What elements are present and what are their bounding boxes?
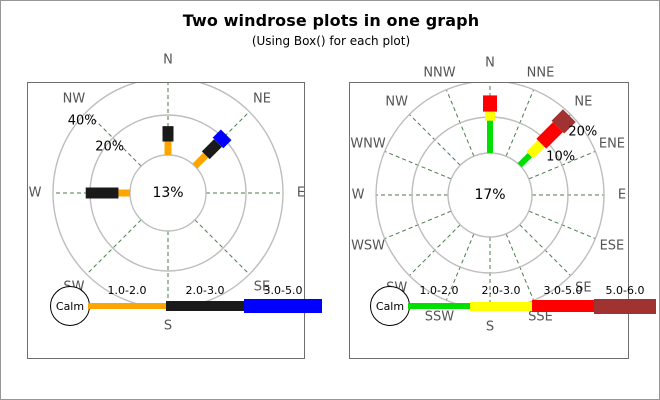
legend-label-5.0-6.0: 5.0-6.0 bbox=[606, 284, 645, 297]
legend-swatch-2.0-3.0 bbox=[166, 301, 244, 311]
legend-swatch-1.0-2.0 bbox=[88, 303, 166, 309]
legend-swatch-3.0-5.0 bbox=[532, 300, 594, 312]
plot-panel-right: NNNENEENEEESESESSESSSWSWWSWWWNWNWNNW10%2… bbox=[349, 82, 629, 359]
rose-segment-NE bbox=[195, 155, 206, 166]
plot-panel-left: NNEESESSWWNW20%40%13% Calm1.0-2.02.0-3.0… bbox=[27, 82, 305, 359]
rose-segment-NE bbox=[520, 155, 530, 165]
legend-calm-circle: Calm bbox=[50, 286, 90, 326]
rose-segment-NE bbox=[218, 135, 226, 143]
grid-spoke bbox=[195, 220, 249, 274]
grid-spoke bbox=[87, 220, 141, 274]
legend-swatch-5.0-6.0 bbox=[594, 299, 656, 314]
ring-pct-label: 40% bbox=[68, 114, 97, 129]
legend-label-2.0-3.0: 2.0-3.0 bbox=[482, 284, 521, 297]
legend-left: Calm1.0-2.02.0-3.03.0-5.0 bbox=[50, 278, 334, 334]
ring-pct-label: 20% bbox=[95, 140, 124, 155]
legend-label-1.0-2.0: 1.0-2.0 bbox=[108, 284, 147, 297]
legend-label-2.0-3.0: 2.0-3.0 bbox=[186, 284, 225, 297]
legend-label-3.0-5.0: 3.0-5.0 bbox=[544, 284, 583, 297]
compass-label-N: N bbox=[163, 53, 173, 68]
page-subtitle: (Using Box() for each plot) bbox=[1, 34, 660, 48]
legend-calm-circle: Calm bbox=[370, 286, 410, 326]
rose-segment-NE bbox=[530, 144, 541, 155]
ring-pct-label: 10% bbox=[546, 150, 575, 165]
legend-label-1.0-2.0: 1.0-2.0 bbox=[420, 284, 459, 297]
compass-label-NNW: NNW bbox=[423, 66, 455, 81]
legend-right: Calm1.0-2.02.0-3.03.0-5.05.0-6.0 bbox=[370, 278, 660, 334]
page-title: Two windrose plots in one graph bbox=[1, 11, 660, 30]
legend-swatch-2.0-3.0 bbox=[470, 302, 532, 311]
legend-swatch-1.0-2.0 bbox=[408, 303, 470, 309]
ring-pct-label: 20% bbox=[568, 125, 597, 140]
legend-swatch-3.0-5.0 bbox=[244, 299, 322, 313]
legend-label-3.0-5.0: 3.0-5.0 bbox=[264, 284, 303, 297]
compass-label-N: N bbox=[485, 56, 495, 71]
compass-label-NNE: NNE bbox=[527, 66, 555, 81]
calm-pct-label: 13% bbox=[152, 185, 183, 201]
windrose-figure: Two windrose plots in one graph (Using B… bbox=[0, 0, 660, 400]
rose-segment-NE bbox=[206, 143, 218, 155]
rose-segment-NE bbox=[541, 127, 558, 144]
calm-pct-label: 17% bbox=[474, 187, 505, 203]
